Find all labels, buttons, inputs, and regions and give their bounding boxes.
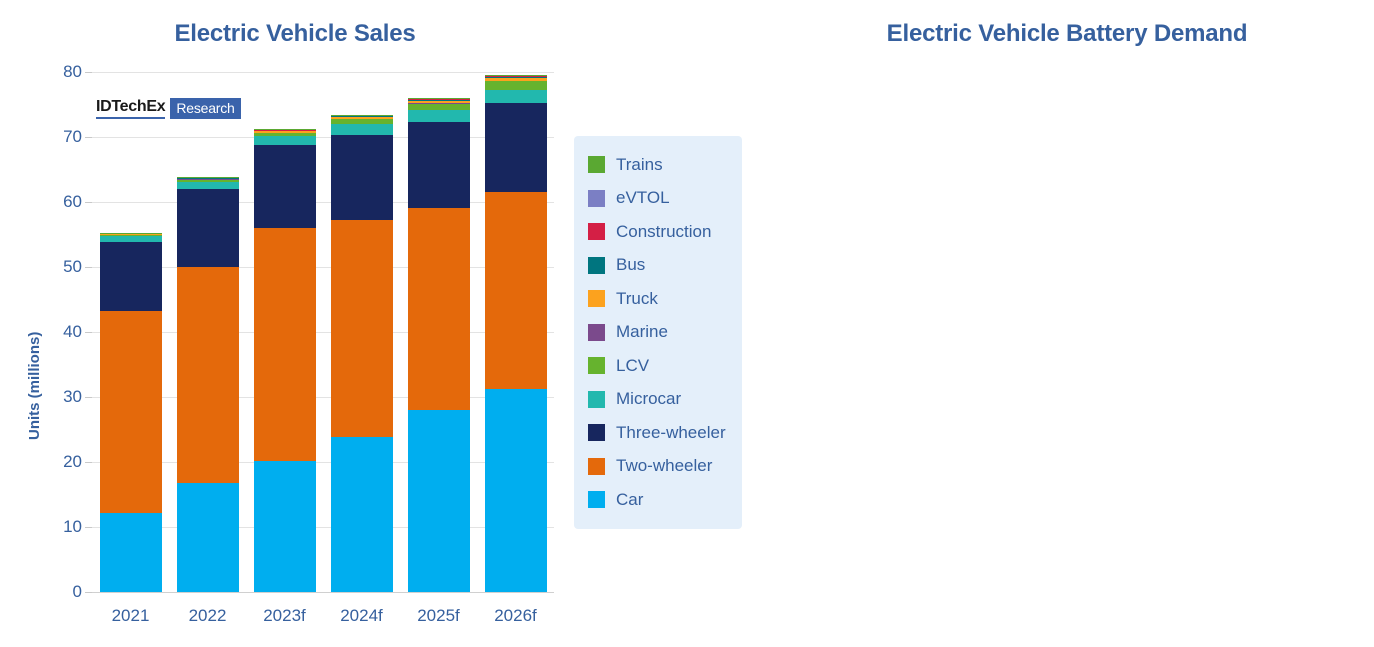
y-axis-tick-label: 20 bbox=[63, 452, 82, 472]
ev-sales-title: Electric Vehicle Sales bbox=[0, 20, 570, 48]
ev-sales-y-axis-label: Units (millions) bbox=[26, 332, 43, 440]
stacked-bar[interactable]: 2023f bbox=[254, 129, 316, 592]
ev-battery-demand-title: Electric Vehicle Battery Demand bbox=[760, 20, 1374, 48]
bar-segment-three-wheeler[interactable] bbox=[100, 242, 162, 311]
gridline bbox=[92, 592, 554, 593]
legend-item-label: Marine bbox=[616, 322, 668, 342]
y-axis-tick-label: 80 bbox=[63, 62, 82, 82]
gridline bbox=[92, 72, 554, 73]
y-axis-tickmark bbox=[85, 72, 92, 73]
legend-item-label: Construction bbox=[616, 222, 711, 242]
legend-item[interactable]: Three-wheeler bbox=[588, 416, 732, 450]
legend-item[interactable]: LCV bbox=[588, 349, 732, 383]
idtechex-watermark-tag: Research bbox=[170, 98, 240, 119]
legend-swatch-icon bbox=[588, 491, 605, 508]
bar-segment-microcar[interactable] bbox=[408, 110, 470, 122]
legend-swatch-icon bbox=[588, 156, 605, 173]
bar-segment-two-wheeler[interactable] bbox=[408, 208, 470, 410]
legend-item-label: Microcar bbox=[616, 389, 681, 409]
legend-swatch-icon bbox=[588, 223, 605, 240]
bar-segment-microcar[interactable] bbox=[331, 124, 393, 135]
chart-page: Electric Vehicle Sales Units (millions) … bbox=[0, 0, 1374, 647]
legend-swatch-icon bbox=[588, 424, 605, 441]
bar-segment-microcar[interactable] bbox=[254, 136, 316, 145]
y-axis-tickmark bbox=[85, 332, 92, 333]
y-axis-tick-label: 10 bbox=[63, 517, 82, 537]
bar-segment-two-wheeler[interactable] bbox=[254, 228, 316, 461]
bar-segment-car[interactable] bbox=[331, 437, 393, 592]
y-axis-tickmark bbox=[85, 527, 92, 528]
stacked-bar[interactable]: 2022 bbox=[177, 177, 239, 592]
bar-segment-three-wheeler[interactable] bbox=[254, 145, 316, 228]
bar-segment-car[interactable] bbox=[408, 410, 470, 592]
idtechex-watermark: IDTechEx Research bbox=[96, 98, 241, 119]
legend-item-label: Trains bbox=[616, 155, 663, 175]
stacked-bar[interactable]: 2021 bbox=[100, 233, 162, 592]
legend-item-label: Two-wheeler bbox=[616, 456, 712, 476]
bar-segment-two-wheeler[interactable] bbox=[100, 311, 162, 513]
chart-legend: TrainseVTOLConstructionBusTruckMarineLCV… bbox=[574, 136, 742, 529]
legend-item[interactable]: Bus bbox=[588, 249, 732, 283]
legend-item-label: eVTOL bbox=[616, 188, 670, 208]
legend-item-label: LCV bbox=[616, 356, 649, 376]
bar-segment-lcv[interactable] bbox=[485, 81, 547, 89]
legend-item[interactable]: Microcar bbox=[588, 383, 732, 417]
y-axis-tick-label: 60 bbox=[63, 192, 82, 212]
x-axis-tick-label: 2022 bbox=[189, 606, 227, 626]
x-axis-tick-label: 2024f bbox=[340, 606, 383, 626]
stacked-bar[interactable]: 2025f bbox=[408, 98, 470, 592]
idtechex-watermark-name: IDTechEx bbox=[96, 98, 165, 119]
bar-segment-car[interactable] bbox=[254, 461, 316, 592]
bar-segment-car[interactable] bbox=[485, 389, 547, 592]
legend-item-label: Car bbox=[616, 490, 643, 510]
y-axis-tickmark bbox=[85, 462, 92, 463]
stacked-bar[interactable]: 2024f bbox=[331, 115, 393, 592]
legend-swatch-icon bbox=[588, 324, 605, 341]
legend-swatch-icon bbox=[588, 391, 605, 408]
bar-segment-three-wheeler[interactable] bbox=[408, 122, 470, 208]
bar-segment-two-wheeler[interactable] bbox=[331, 220, 393, 437]
bar-segment-three-wheeler[interactable] bbox=[485, 103, 547, 191]
legend-swatch-icon bbox=[588, 290, 605, 307]
legend-item-label: Three-wheeler bbox=[616, 423, 726, 443]
bar-segment-microcar[interactable] bbox=[485, 90, 547, 104]
y-axis-tick-label: 0 bbox=[73, 582, 82, 602]
y-axis-tick-label: 40 bbox=[63, 322, 82, 342]
legend-swatch-icon bbox=[588, 357, 605, 374]
legend-item[interactable]: Truck bbox=[588, 282, 732, 316]
y-axis-tick-label: 50 bbox=[63, 257, 82, 277]
legend-swatch-icon bbox=[588, 190, 605, 207]
bar-segment-microcar[interactable] bbox=[177, 182, 239, 189]
y-axis-tickmark bbox=[85, 592, 92, 593]
stacked-bar[interactable]: 2026f bbox=[485, 75, 547, 592]
bar-segment-two-wheeler[interactable] bbox=[485, 192, 547, 389]
ev-battery-demand-panel: Electric Vehicle Battery Demand Battery … bbox=[760, 0, 1374, 647]
legend-swatch-icon bbox=[588, 257, 605, 274]
bar-segment-car[interactable] bbox=[100, 513, 162, 592]
legend-item-label: Truck bbox=[616, 289, 658, 309]
legend-item[interactable]: Two-wheeler bbox=[588, 450, 732, 484]
x-axis-tick-label: 2026f bbox=[494, 606, 537, 626]
bar-segment-two-wheeler[interactable] bbox=[177, 267, 239, 483]
legend-item[interactable]: Marine bbox=[588, 316, 732, 350]
ev-sales-panel: Electric Vehicle Sales Units (millions) … bbox=[0, 0, 570, 647]
y-axis-tick-label: 70 bbox=[63, 127, 82, 147]
x-axis-tick-label: 2023f bbox=[263, 606, 306, 626]
legend-swatch-icon bbox=[588, 458, 605, 475]
bar-segment-three-wheeler[interactable] bbox=[177, 189, 239, 267]
y-axis-tickmark bbox=[85, 202, 92, 203]
bar-segment-three-wheeler[interactable] bbox=[331, 135, 393, 220]
bar-segment-car[interactable] bbox=[177, 483, 239, 592]
x-axis-tick-label: 2025f bbox=[417, 606, 460, 626]
legend-item[interactable]: Car bbox=[588, 483, 732, 517]
y-axis-tickmark bbox=[85, 267, 92, 268]
ev-sales-plot-area: 01020304050607080202120222023f2024f2025f… bbox=[92, 72, 554, 592]
y-axis-tick-label: 30 bbox=[63, 387, 82, 407]
x-axis-tick-label: 2021 bbox=[112, 606, 150, 626]
legend-item[interactable]: eVTOL bbox=[588, 182, 732, 216]
legend-item[interactable]: Construction bbox=[588, 215, 732, 249]
y-axis-tickmark bbox=[85, 137, 92, 138]
legend-item-label: Bus bbox=[616, 255, 645, 275]
y-axis-tickmark bbox=[85, 397, 92, 398]
legend-item[interactable]: Trains bbox=[588, 148, 732, 182]
